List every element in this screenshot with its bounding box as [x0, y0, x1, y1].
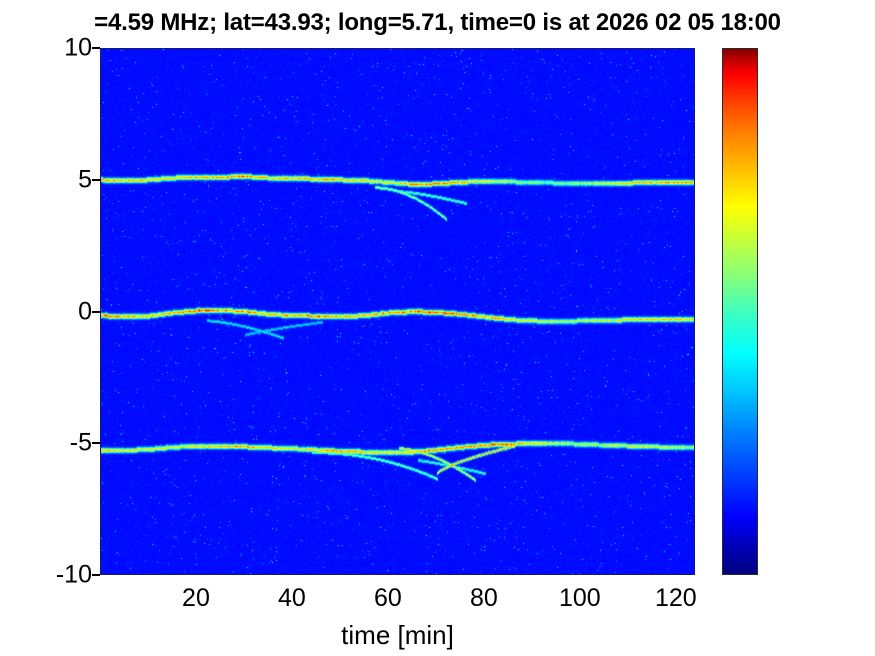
figure-canvas: =4.59 MHz; lat=43.93; long=5.71, time=0 …	[0, 0, 875, 656]
x-tick-label: 40	[278, 584, 306, 613]
y-tick-label: 10	[64, 34, 92, 63]
y-tick-label: 5	[78, 165, 92, 194]
x-tick-label: 120	[655, 584, 697, 613]
y-tick-mark	[92, 311, 100, 313]
colorbar-tick-labels: 33.544.5	[700, 0, 875, 656]
y-tick-mark	[92, 179, 100, 181]
spectrogram-image	[101, 49, 695, 575]
x-tick-label: 100	[559, 584, 601, 613]
y-tick-label: -5	[70, 429, 92, 458]
x-tick-label: 80	[470, 584, 498, 613]
y-tick-mark	[92, 574, 100, 576]
y-tick-labels: 1050-5-10	[0, 0, 92, 656]
y-tick-label: 0	[78, 297, 92, 326]
y-tick-mark	[92, 442, 100, 444]
y-tick-mark	[92, 47, 100, 49]
x-axis-title: time [min]	[100, 620, 695, 651]
x-tick-label: 60	[374, 584, 402, 613]
x-tick-label: 20	[182, 584, 210, 613]
spectrogram-axes[interactable]	[100, 48, 695, 575]
